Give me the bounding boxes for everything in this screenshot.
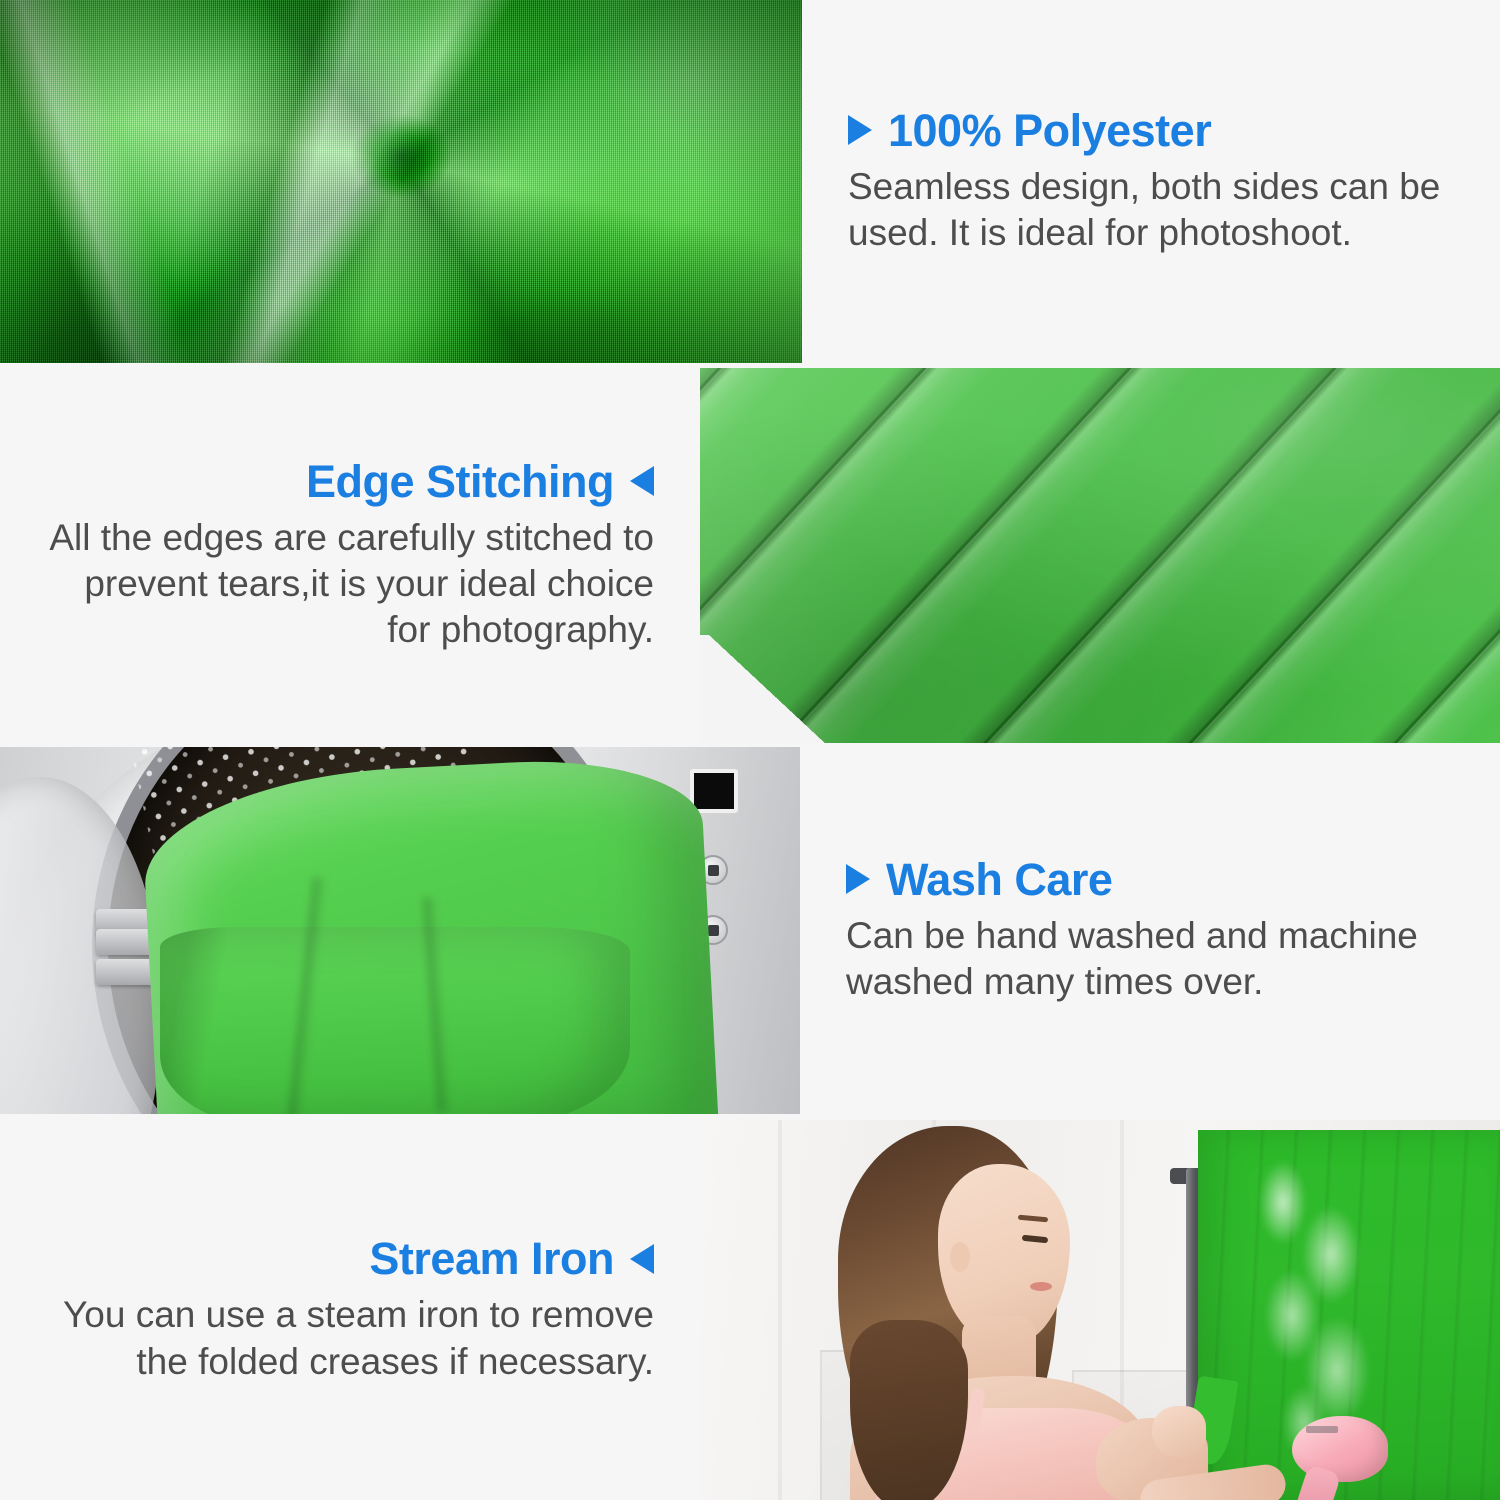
feature-description: You can use a steam iron to remove the f… — [46, 1292, 654, 1385]
knob-indicator — [708, 925, 719, 936]
washer-display-screen — [690, 769, 738, 813]
feature-title: Stream Iron — [369, 1235, 614, 1282]
edge-stitching-photo — [700, 368, 1500, 743]
feature-caption-edge-stitching: Edge Stitching All the edges are careful… — [0, 368, 700, 743]
steam-cloud — [1238, 1156, 1388, 1446]
feature-title: Wash Care — [886, 856, 1112, 903]
feature-title: Edge Stitching — [306, 458, 614, 505]
model-ear — [950, 1242, 970, 1272]
model-steaming-backdrop-image — [700, 1120, 1500, 1500]
feature-caption-wash-care: Wash Care Can be hand washed and machine… — [800, 747, 1500, 1114]
triangle-left-icon — [630, 466, 654, 496]
feature-description: Seamless design, both sides can be used.… — [848, 164, 1454, 257]
feature-title: 100% Polyester — [888, 107, 1211, 154]
washing-machine-image — [0, 747, 800, 1114]
model-lips — [1030, 1282, 1052, 1291]
washing-machine-photo — [0, 747, 800, 1114]
photo-corner-cut — [700, 635, 828, 743]
wall-panel-line — [778, 1120, 782, 1500]
green-polyester-fabric-image — [0, 0, 802, 363]
feature-title-row: Stream Iron — [369, 1235, 654, 1282]
feature-row-polyester: 100% Polyester Seamless design, both sid… — [0, 0, 1500, 363]
feature-description: All the edges are carefully stitched to … — [46, 515, 654, 654]
feature-row-wash-care: Wash Care Can be hand washed and machine… — [0, 747, 1500, 1114]
fabric-swirl-photo — [0, 0, 802, 363]
photo-vignette — [0, 0, 802, 363]
triangle-right-icon — [846, 864, 870, 894]
feature-description: Can be hand washed and machine washed ma… — [846, 913, 1454, 1006]
steamer-label — [1306, 1426, 1338, 1433]
feature-title-row: Edge Stitching — [306, 458, 654, 505]
feature-caption-polyester: 100% Polyester Seamless design, both sid… — [802, 0, 1500, 363]
knob-indicator — [708, 865, 719, 876]
steam-iron-photo — [700, 1120, 1500, 1500]
feature-title-row: Wash Care — [846, 856, 1112, 903]
feature-row-edge-stitching: Edge Stitching All the edges are careful… — [0, 368, 1500, 743]
triangle-right-icon — [848, 115, 872, 145]
model-hair-tail — [850, 1320, 968, 1500]
feature-caption-stream-iron: Stream Iron You can use a steam iron to … — [0, 1120, 700, 1500]
product-feature-infographic: 100% Polyester Seamless design, both sid… — [0, 0, 1500, 1500]
model-hand-holding-fabric — [1152, 1406, 1206, 1458]
feature-row-stream-iron: Stream Iron You can use a steam iron to … — [0, 1120, 1500, 1500]
green-cloth-draping — [160, 927, 630, 1114]
triangle-left-icon — [630, 1244, 654, 1274]
folded-fabric-image — [700, 368, 1500, 743]
feature-title-row: 100% Polyester — [848, 107, 1211, 154]
